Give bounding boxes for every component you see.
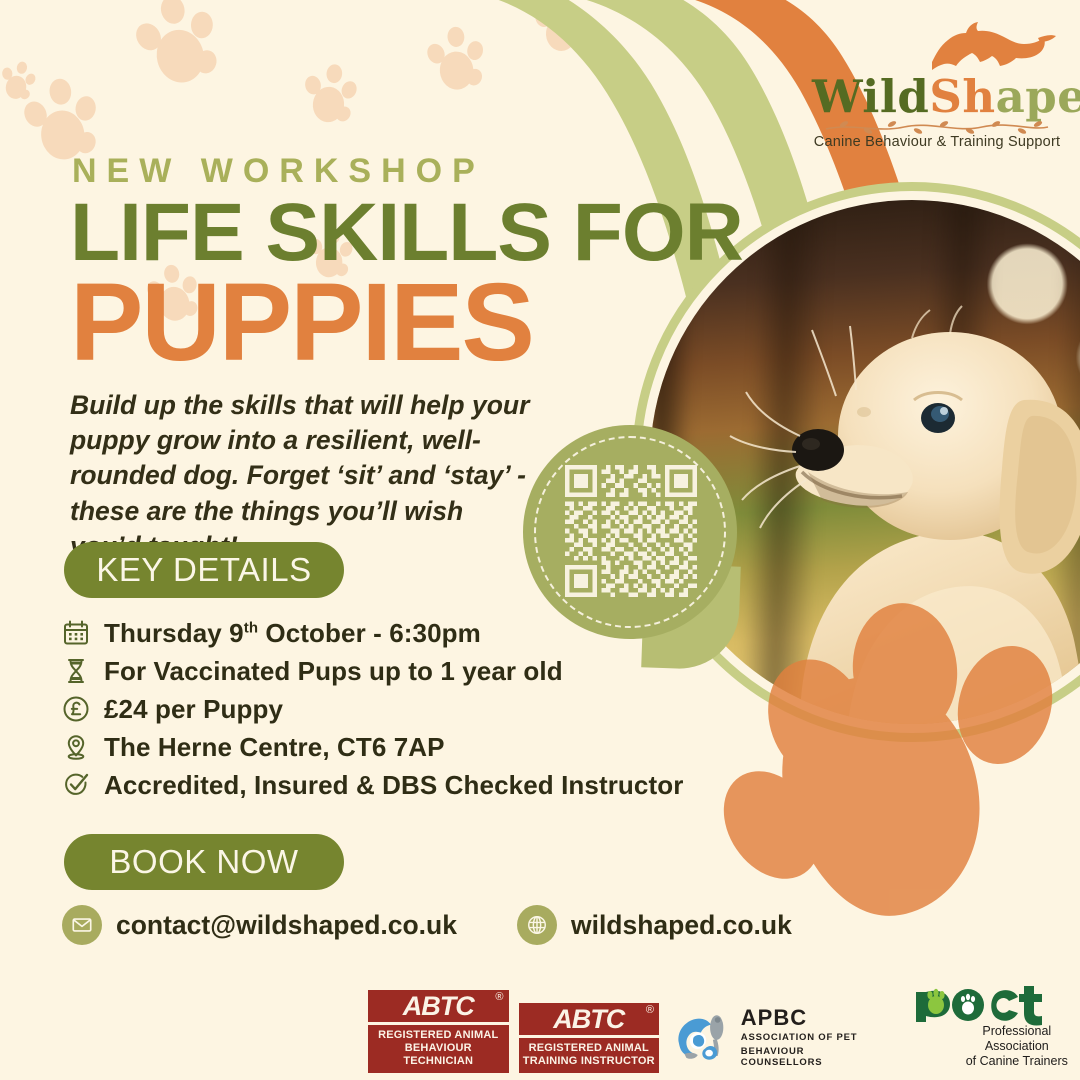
accreditation-badges: ABTC ® REGISTERED ANIMAL BEHAVIOUR TECHN… [368, 982, 1080, 1073]
abtc-caption-2-line2: TRAINING INSTRUCTOR [522, 1055, 657, 1068]
logo-wordmark: WildShaped [812, 70, 1062, 123]
logo-word-sh: Sh [929, 70, 995, 123]
apbc-badge: APBC ASSOCIATION OF PET BEHAVIOUR COUNSE… [675, 1005, 882, 1073]
abtc-wordmark-1: ABTC [403, 991, 474, 1022]
apbc-text: APBC ASSOCIATION OF PET BEHAVIOUR COUNSE… [741, 1005, 882, 1069]
brand-logo: WildShaped Canine Behaviour & Training S… [812, 22, 1062, 162]
abtc-caption-1: REGISTERED ANIMAL BEHAVIOUR TECHNICIAN [368, 1025, 509, 1073]
logo-word-aped: aped [996, 70, 1080, 123]
detail-row-price: £24 per Puppy [62, 691, 662, 727]
pact-badge: Professional Association of Canine Train… [910, 982, 1080, 1073]
globe-icon [517, 905, 557, 945]
contact-website[interactable]: wildshaped.co.uk [517, 905, 792, 945]
apbc-name: APBC [741, 1005, 882, 1030]
abtc-caption-1-line1: REGISTERED ANIMAL [371, 1029, 506, 1042]
pact-line2: of Canine Trainers [954, 1054, 1080, 1069]
poster-canvas: NEW WORKSHOP LIFE SKILLS FOR PUPPIES Bui… [0, 0, 1080, 1080]
qr-badge[interactable] [523, 425, 755, 673]
detail-text-date: Thursday 9th October - 6:30pm [104, 618, 481, 649]
detail-text-credentials: Accredited, Insured & DBS Checked Instru… [104, 770, 683, 801]
registered-mark-1: ® [495, 991, 503, 1003]
logo-word-wild: Wild [812, 70, 929, 123]
apbc-line1: ASSOCIATION OF PET [741, 1033, 882, 1044]
detail-row-credentials: Accredited, Insured & DBS Checked Instru… [62, 767, 662, 803]
contact-email-text: contact@wildshaped.co.uk [116, 910, 457, 941]
abtc-wordmark-2: ABTC [553, 1004, 624, 1035]
envelope-icon [62, 905, 102, 945]
logo-tagline: Canine Behaviour & Training Support [812, 134, 1062, 150]
pact-logo-icon [910, 982, 1058, 1030]
abtc-badge-behaviour: ABTC ® REGISTERED ANIMAL BEHAVIOUR TECHN… [368, 990, 509, 1073]
kicker-text: NEW WORKSHOP [72, 152, 485, 191]
calendar-icon [62, 619, 104, 647]
abtc-caption-1-line2: BEHAVIOUR TECHNICIAN [371, 1042, 506, 1068]
pact-caption: Professional Association of Canine Train… [954, 1024, 1080, 1069]
abtc-badge-training: ABTC ® REGISTERED ANIMAL TRAINING INSTRU… [519, 1003, 660, 1073]
detail-text-location: The Herne Centre, CT6 7AP [104, 732, 445, 763]
key-details-label: KEY DETAILS [64, 542, 344, 598]
pound-circle-icon [62, 695, 104, 723]
book-now-button[interactable]: BOOK NOW [64, 834, 344, 890]
detail-row-location: The Herne Centre, CT6 7AP [62, 729, 662, 765]
abtc-logo-1: ABTC ® [368, 990, 509, 1022]
qr-code[interactable] [565, 465, 697, 597]
apbc-animals-icon [675, 1009, 734, 1065]
title-line-2: PUPPIES [70, 268, 533, 378]
detail-text-age: For Vaccinated Pups up to 1 year old [104, 656, 563, 687]
abtc-logo-2: ABTC ® [519, 1003, 660, 1035]
contact-website-text: wildshaped.co.uk [571, 910, 792, 941]
location-pin-icon [62, 733, 104, 761]
detail-text-price: £24 per Puppy [104, 694, 283, 725]
dog-silhouette-icon [812, 14, 1062, 74]
hourglass-icon [62, 657, 104, 685]
registered-mark-2: ® [646, 1004, 654, 1016]
abtc-caption-2-line1: REGISTERED ANIMAL [522, 1042, 657, 1055]
check-circle-icon [62, 771, 104, 799]
description-paragraph: Build up the skills that will help your … [70, 388, 530, 564]
pact-line1: Professional Association [954, 1024, 1080, 1054]
apbc-line2: BEHAVIOUR COUNSELLORS [741, 1047, 882, 1069]
contact-row: contact@wildshaped.co.uk wildshaped.co.u… [62, 905, 792, 945]
contact-email[interactable]: contact@wildshaped.co.uk [62, 905, 457, 945]
abtc-caption-2: REGISTERED ANIMAL TRAINING INSTRUCTOR [519, 1038, 660, 1073]
